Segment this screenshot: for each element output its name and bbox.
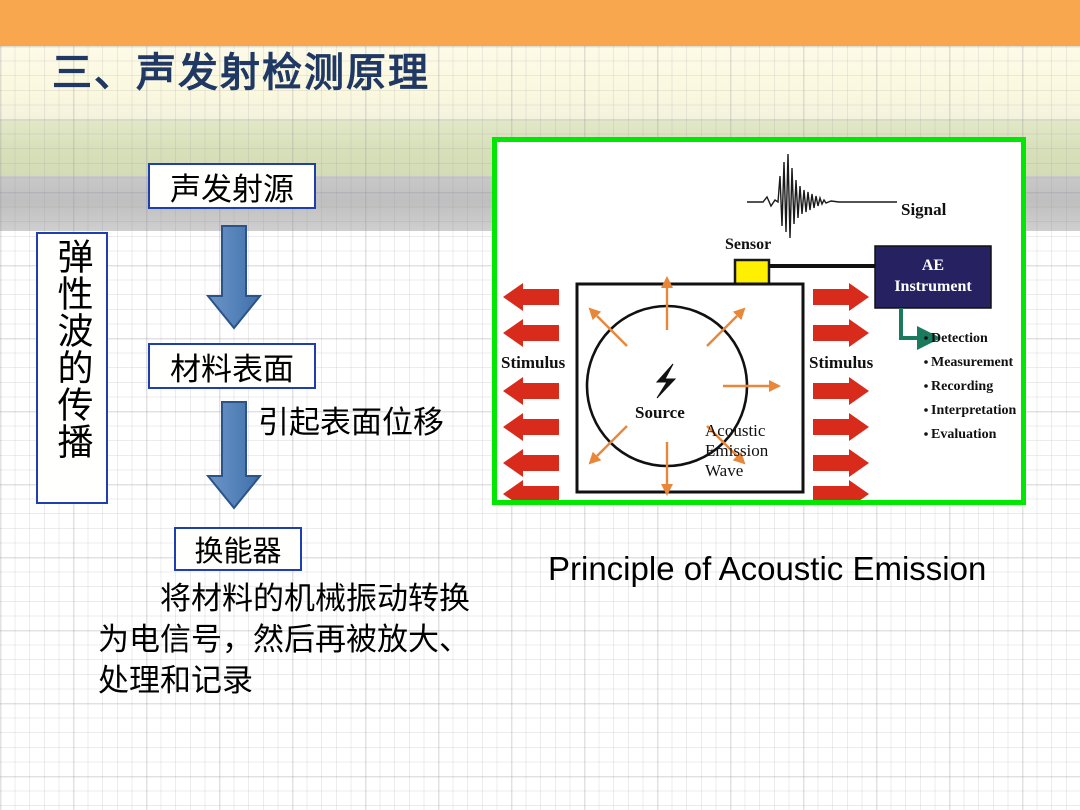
instrument-functions-list: Detection Measurement Recording Interpre… xyxy=(924,331,1016,442)
stimulus-arrows-left xyxy=(503,283,559,500)
wave-label-line2: Emission xyxy=(705,441,769,460)
function-item: Detection xyxy=(931,331,988,346)
specimen-body xyxy=(577,284,803,492)
flow-box-label: 换能器 xyxy=(194,528,281,570)
signal-label: Signal xyxy=(901,200,947,219)
stimulus-label-right: Stimulus xyxy=(809,353,874,372)
vertical-label-box: 弹性波的传播 xyxy=(36,232,108,504)
wave-label-line1: Acoustic xyxy=(705,421,766,440)
ae-instrument-box xyxy=(875,246,991,308)
note-transducer-description: 将材料的机械振动转换为电信号，然后再被放大、处理和记录 xyxy=(98,578,498,702)
stimulus-arrows-right xyxy=(813,283,869,500)
down-arrow-icon-1 xyxy=(206,224,262,330)
sensor-label: Sensor xyxy=(725,236,771,253)
down-arrow-icon-2 xyxy=(206,400,262,510)
note-surface-displacement: 引起表面位移 xyxy=(258,397,444,442)
instrument-output-connector xyxy=(901,308,921,338)
principle-diagram-image: Signal Sensor AE Instrument Detection Me… xyxy=(492,137,1026,505)
flow-box-material-surface: 材料表面 xyxy=(148,343,316,389)
flow-box-acoustic-emission-source: 声发射源 xyxy=(148,163,316,209)
signal-waveform-icon xyxy=(747,154,897,238)
wave-label-line3: Wave xyxy=(705,461,743,480)
ae-instrument-label-line1: AE xyxy=(922,257,944,274)
vertical-label-text: 弹性波的传播 xyxy=(53,238,92,460)
diagram-caption: Principle of Acoustic Emission xyxy=(548,550,986,588)
flow-box-label: 材料表面 xyxy=(170,344,294,389)
principle-diagram-svg: Signal Sensor AE Instrument Detection Me… xyxy=(497,142,1021,500)
flow-box-transducer: 换能器 xyxy=(174,527,302,571)
page-title: 三、声发射检测原理 xyxy=(52,40,430,98)
function-item: Evaluation xyxy=(931,427,997,442)
stimulus-label-left: Stimulus xyxy=(501,353,566,372)
function-item: Interpretation xyxy=(931,403,1016,418)
ae-instrument-label-line2: Instrument xyxy=(894,278,972,295)
function-item: Recording xyxy=(931,379,993,394)
slide-canvas: 三、声发射检测原理 弹性波的传播 声发射源 材料表面 换能器 xyxy=(0,0,1080,810)
source-label: Source xyxy=(635,403,685,422)
flow-box-label: 声发射源 xyxy=(170,164,294,209)
function-item: Measurement xyxy=(931,355,1013,370)
